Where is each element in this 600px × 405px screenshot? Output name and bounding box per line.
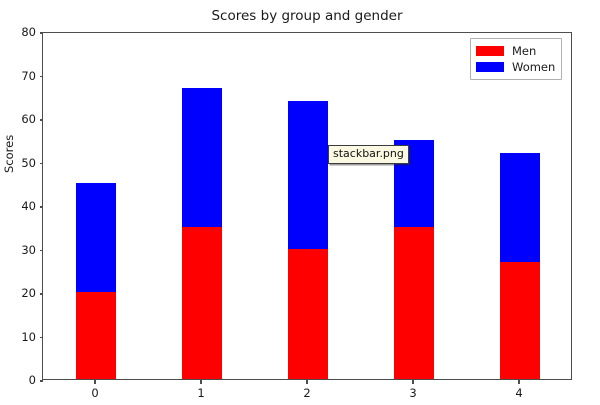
x-tick-label: 0: [75, 386, 115, 400]
x-tick-mark: [94, 380, 95, 384]
bar-group-3[interactable]: [394, 31, 434, 379]
x-tick-label: 3: [393, 386, 433, 400]
legend-item-men[interactable]: Men: [476, 43, 555, 59]
y-tick-label: 40: [0, 199, 36, 213]
bar-group-2[interactable]: [288, 31, 328, 379]
bars-layer: [43, 33, 571, 379]
legend-label: Men: [512, 44, 536, 58]
bar-segment-men-2[interactable]: [288, 249, 328, 380]
y-tick-label: 0: [0, 373, 36, 387]
x-tick-label: 1: [181, 386, 221, 400]
y-tick-label: 10: [0, 330, 36, 344]
legend-swatch-women: [476, 62, 504, 72]
y-tick-label: 80: [0, 25, 36, 39]
legend[interactable]: MenWomen: [470, 38, 562, 80]
bar-segment-women-1[interactable]: [182, 88, 222, 227]
y-tick-label: 70: [0, 69, 36, 83]
y-tick-label: 60: [0, 112, 36, 126]
x-tick-label: 2: [287, 386, 327, 400]
plot-area: 01020304050607080: [42, 32, 572, 380]
bar-segment-men-4[interactable]: [500, 262, 540, 379]
bar-segment-women-2[interactable]: [288, 101, 328, 249]
y-tick-label: 20: [0, 286, 36, 300]
y-axis-label: Scores: [2, 135, 16, 173]
bar-group-0[interactable]: [76, 31, 116, 379]
file-name-tooltip: stackbar.png: [328, 145, 409, 164]
legend-swatch-men: [476, 46, 504, 56]
chart-title: Scores by group and gender: [42, 7, 572, 25]
x-axis-ticks: 01234: [42, 380, 572, 405]
bar-segment-men-0[interactable]: [76, 292, 116, 379]
figure-canvas: Scores by group and gender 0102030405060…: [0, 0, 600, 405]
legend-item-women[interactable]: Women: [476, 59, 555, 75]
bar-group-4[interactable]: [500, 31, 540, 379]
legend-label: Women: [512, 60, 555, 74]
x-tick-mark: [200, 380, 201, 384]
bar-segment-men-1[interactable]: [182, 227, 222, 379]
bar-segment-women-4[interactable]: [500, 153, 540, 262]
x-tick-mark: [412, 380, 413, 384]
x-tick-label: 4: [499, 386, 539, 400]
x-tick-mark: [306, 380, 307, 384]
bar-segment-women-0[interactable]: [76, 183, 116, 292]
x-tick-mark: [518, 380, 519, 384]
bar-segment-men-3[interactable]: [394, 227, 434, 379]
bar-group-1[interactable]: [182, 31, 222, 379]
y-tick-label: 30: [0, 243, 36, 257]
